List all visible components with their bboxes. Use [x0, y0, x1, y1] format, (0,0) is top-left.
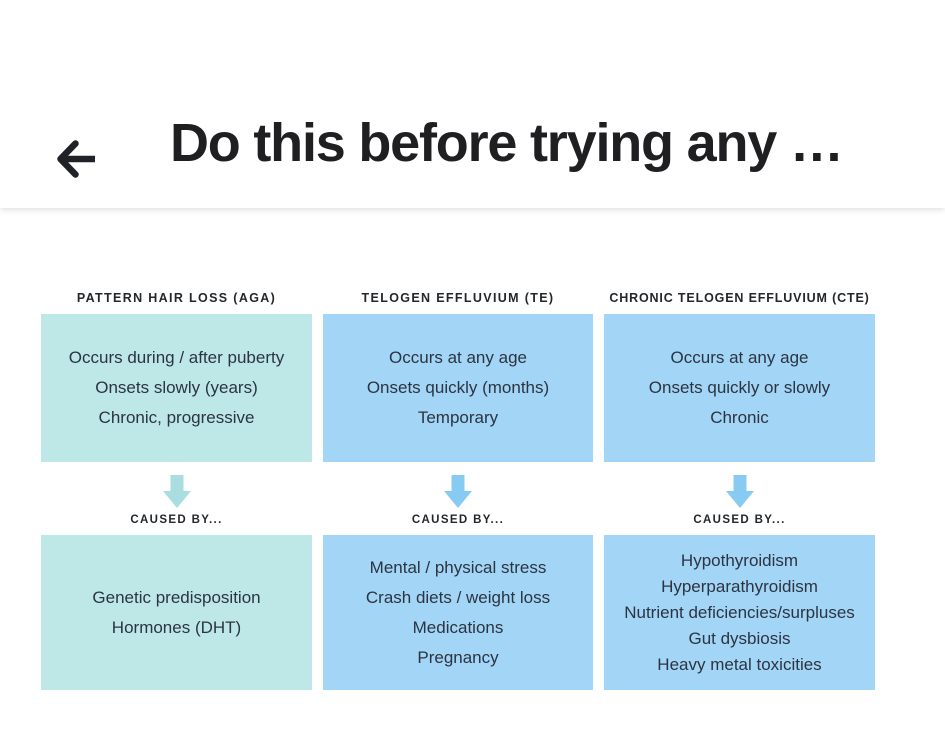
- feature-item: Onsets quickly or slowly: [649, 373, 830, 403]
- column-header: PATTERN HAIR LOSS (AGA): [41, 292, 312, 305]
- cause-item: Genetic predisposition: [92, 582, 260, 612]
- feature-item: Onsets quickly (months): [367, 373, 549, 403]
- cause-item: Hormones (DHT): [112, 612, 241, 642]
- caused-by-label: CAUSED BY...: [412, 515, 504, 527]
- header-bar: Do this before trying any …: [0, 0, 945, 208]
- cause-item: Crash diets / weight loss: [366, 582, 550, 612]
- causes-panel: Genetic predisposition Hormones (DHT): [41, 535, 312, 690]
- feature-item: Chronic, progressive: [99, 403, 255, 433]
- cause-item: Mental / physical stress: [370, 552, 547, 582]
- cause-item: Pregnancy: [417, 642, 498, 672]
- feature-item: Occurs during / after puberty: [69, 343, 284, 373]
- caused-by-label: CAUSED BY...: [130, 515, 222, 527]
- page-title: Do this before trying any …: [170, 112, 930, 174]
- features-panel: Occurs at any age Onsets quickly or slow…: [604, 314, 875, 462]
- back-button[interactable]: [42, 128, 112, 190]
- caused-by-label: CAUSED BY...: [693, 515, 785, 527]
- cause-item: Hyperparathyroidism: [661, 573, 818, 599]
- cause-item: Gut dysbiosis: [688, 625, 790, 651]
- features-panel: Occurs at any age Onsets quickly (months…: [323, 314, 593, 462]
- column-header: TELOGEN EFFLUVIUM (TE): [323, 292, 593, 305]
- causes-panel: Mental / physical stress Crash diets / w…: [323, 535, 593, 690]
- back-arrow-icon: [49, 137, 105, 181]
- down-arrow-icon: [160, 473, 194, 509]
- infographic-column-aga: PATTERN HAIR LOSS (AGA) Occurs during / …: [41, 292, 312, 690]
- cause-item: Medications: [413, 612, 504, 642]
- connector: CAUSED BY...: [604, 462, 875, 535]
- features-panel: Occurs during / after puberty Onsets slo…: [41, 314, 312, 462]
- column-header: CHRONIC TELOGEN EFFLUVIUM (CTE): [604, 292, 875, 305]
- down-arrow-icon: [723, 473, 757, 509]
- causes-panel: Hypothyroidism Hyperparathyroidism Nutri…: [604, 535, 875, 690]
- connector: CAUSED BY...: [41, 462, 312, 535]
- app-screen: situation? Do this before trying any … P…: [0, 0, 945, 738]
- feature-item: Onsets slowly (years): [95, 373, 257, 403]
- infographic-column-cte: CHRONIC TELOGEN EFFLUVIUM (CTE) Occurs a…: [604, 292, 875, 690]
- feature-item: Chronic: [710, 403, 769, 433]
- feature-item: Temporary: [418, 403, 498, 433]
- feature-item: Occurs at any age: [671, 343, 809, 373]
- infographic-column-te: TELOGEN EFFLUVIUM (TE) Occurs at any age…: [323, 292, 593, 690]
- infographic-columns: PATTERN HAIR LOSS (AGA) Occurs during / …: [41, 292, 904, 690]
- cause-item: Nutrient deficiencies/surpluses: [624, 599, 855, 625]
- down-arrow-icon: [441, 473, 475, 509]
- cause-item: Hypothyroidism: [681, 547, 798, 573]
- infographic: PATTERN HAIR LOSS (AGA) Occurs during / …: [0, 208, 945, 738]
- connector: CAUSED BY...: [323, 462, 593, 535]
- feature-item: Occurs at any age: [389, 343, 527, 373]
- cause-item: Heavy metal toxicities: [657, 651, 821, 677]
